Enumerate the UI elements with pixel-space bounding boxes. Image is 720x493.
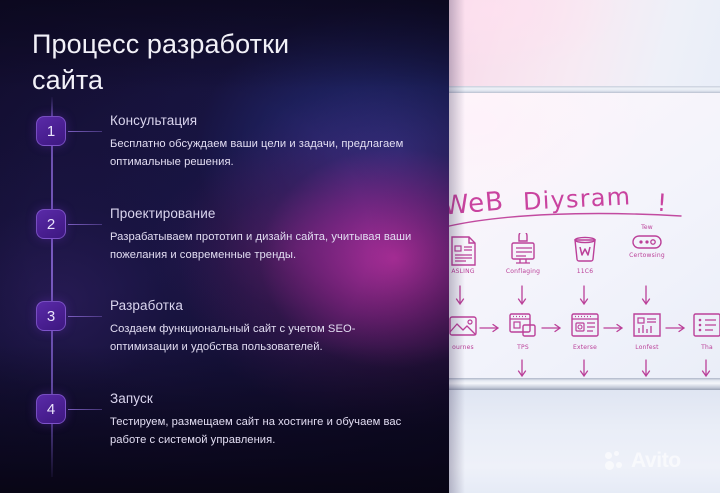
arrow-down-icon: [579, 285, 589, 309]
whiteboard-tray: [449, 378, 720, 390]
step-connector-line: [68, 316, 102, 317]
step-body: Проектирование Разрабатываем прототип и …: [110, 206, 415, 264]
arrow-right-icon: [479, 323, 501, 333]
step-number: 1: [47, 124, 55, 139]
diagram-node: Tew Certowsing: [621, 225, 673, 260]
left-content-panel: Процесс разработки сайта 1 Консультация …: [0, 0, 449, 493]
step-title: Проектирование: [110, 206, 415, 221]
diagram-node: Conflaging: [497, 233, 549, 276]
whiteboard-top-frame: [449, 86, 720, 93]
step-title: Разработка: [110, 298, 415, 313]
avito-watermark-text: Avito: [631, 450, 681, 471]
photo-edge-shadow: [449, 0, 465, 493]
arrow-down-icon: [517, 285, 527, 309]
step-number: 2: [47, 217, 55, 232]
step-connector-line: [68, 409, 102, 410]
list-icon: [690, 309, 720, 343]
step-connector-line: [68, 224, 102, 225]
step-number-badge: 3: [36, 301, 66, 331]
slide-canvas: Процесс разработки сайта 1 Консультация …: [0, 0, 720, 493]
whiteboard-photo-panel: WeB Diysram ! ASLING: [449, 0, 720, 493]
step-description: Тестируем, размещаем сайт на хостинге и …: [110, 413, 415, 449]
step-title: Консультация: [110, 113, 415, 128]
arrow-right-icon: [665, 323, 687, 333]
monitor-icon: [506, 233, 540, 267]
arrow-down-icon: [641, 285, 651, 309]
diagram-node-label: Conflaging: [497, 269, 549, 276]
step-number: 4: [47, 402, 55, 417]
windows-stack-icon: [506, 309, 540, 343]
arrow-right-icon: [603, 323, 625, 333]
diagram-node-label: TPS: [497, 345, 549, 352]
diagram-node-label: Exterse: [559, 345, 611, 352]
wall-below-board: [449, 390, 720, 493]
step-description: Разрабатываем прототип и дизайн сайта, у…: [110, 228, 415, 264]
timeline-steps: 1 Консультация Бесплатно обсуждаем ваши …: [0, 0, 449, 493]
wall-light-sheen: [449, 0, 720, 92]
step-number-badge: 2: [36, 209, 66, 239]
step-number-badge: 4: [36, 394, 66, 424]
diagram-node-label: Lonfest: [621, 345, 673, 352]
avito-logo-icon: [605, 451, 627, 471]
diagram-node-label: 11С6: [559, 269, 611, 276]
diagram-node-label: Tha: [681, 345, 720, 352]
diagram-node: 11С6: [559, 233, 611, 276]
step-connector-line: [68, 131, 102, 132]
diagram-node-sublabel: Tew: [621, 225, 673, 232]
step-body: Запуск Тестируем, размещаем сайт на хост…: [110, 391, 415, 449]
step-body: Разработка Создаем функциональный сайт с…: [110, 298, 415, 356]
avito-watermark: Avito: [605, 450, 681, 471]
pill-dots-icon: [630, 233, 664, 251]
step-description: Создаем функциональный сайт с учетом SEO…: [110, 320, 415, 356]
step-title: Запуск: [110, 391, 415, 406]
arrow-right-icon: [541, 323, 563, 333]
step-description: Бесплатно обсуждаем ваши цели и задачи, …: [110, 135, 415, 171]
step-number-badge: 1: [36, 116, 66, 146]
step-number: 3: [47, 309, 55, 324]
browser-card-icon: [568, 309, 602, 343]
dashboard-icon: [630, 309, 664, 343]
step-body: Консультация Бесплатно обсуждаем ваши це…: [110, 113, 415, 171]
whiteboard-surface: WeB Diysram ! ASLING: [449, 93, 720, 380]
bucket-w-icon: [568, 233, 602, 267]
diagram-node-label: Certowsing: [621, 253, 673, 260]
